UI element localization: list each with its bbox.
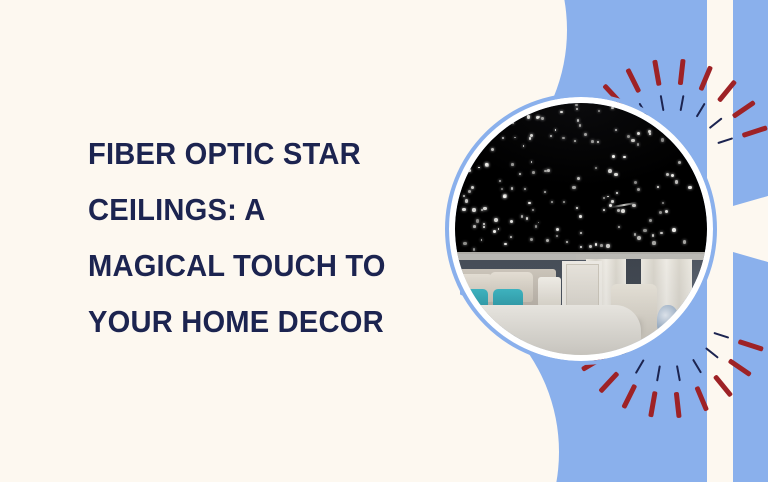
title-line-3: MAGICAL TOUCH TO [88, 238, 398, 294]
hero-photo [449, 97, 713, 361]
title-line-4: YOUR HOME DECOR [88, 294, 398, 350]
title-line-1: FIBER OPTIC STAR [88, 126, 398, 182]
title-line-2: CEILINGS: A [88, 182, 398, 238]
page-title: FIBER OPTIC STAR CEILINGS: A MAGICAL TOU… [88, 126, 418, 350]
photo-tint-overlay [455, 103, 707, 355]
photo-image [455, 103, 707, 355]
poster-canvas: FIBER OPTIC STAR CEILINGS: A MAGICAL TOU… [0, 0, 768, 482]
